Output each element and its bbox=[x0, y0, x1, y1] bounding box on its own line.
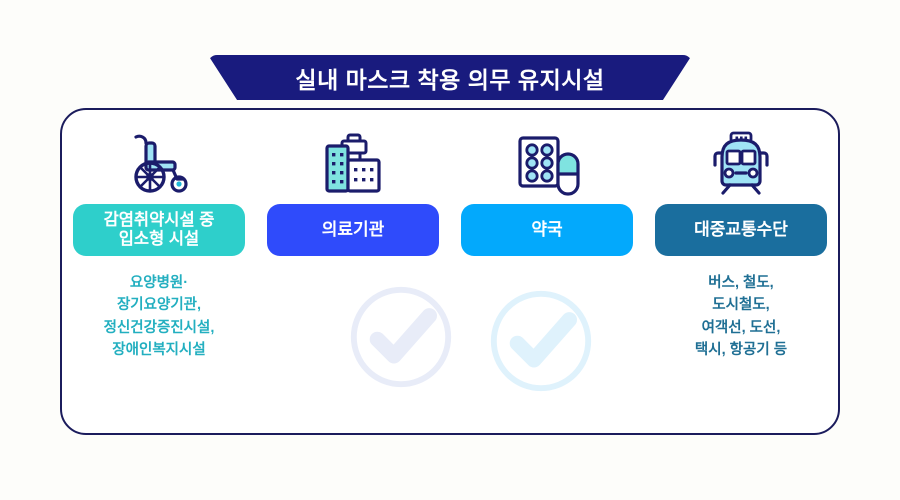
facility-column-medical: 의료기관 bbox=[256, 110, 450, 433]
medicine-pills-icon bbox=[511, 126, 583, 200]
infographic-root: 실내 마스크 착용 의무 유지시설 bbox=[0, 0, 900, 500]
facility-caption-transit: 버스, 철도, 도시철도, 여객선, 도선, 택시, 항공기 등 bbox=[695, 272, 787, 362]
content-card: 감염취약시설 중 입소형 시설 요양병원· 장기요양기관, 정신건강증진시설, … bbox=[60, 108, 840, 435]
facility-pill-pharmacy[interactable]: 약국 bbox=[461, 204, 633, 256]
facility-caption-vulnerable: 요양병원· 장기요양기관, 정신건강증진시설, 장애인복지시설 bbox=[104, 272, 215, 362]
page-title: 실내 마스크 착용 의무 유지시설 bbox=[208, 55, 692, 100]
facility-column-transit: 대중교통수단 버스, 철도, 도시철도, 여객선, 도선, 택시, 항공기 등 bbox=[644, 110, 838, 433]
facility-columns: 감염취약시설 중 입소형 시설 요양병원· 장기요양기관, 정신건강증진시설, … bbox=[62, 110, 838, 433]
facility-column-vulnerable: 감염취약시설 중 입소형 시설 요양병원· 장기요양기관, 정신건강증진시설, … bbox=[62, 110, 256, 433]
facility-pill-vulnerable[interactable]: 감염취약시설 중 입소형 시설 bbox=[73, 204, 245, 256]
train-icon bbox=[705, 126, 777, 200]
facility-pill-transit[interactable]: 대중교통수단 bbox=[655, 204, 827, 256]
wheelchair-icon bbox=[123, 126, 195, 200]
hospital-icon bbox=[317, 126, 389, 200]
facility-pill-medical[interactable]: 의료기관 bbox=[267, 204, 439, 256]
facility-column-pharmacy: 약국 bbox=[450, 110, 644, 433]
